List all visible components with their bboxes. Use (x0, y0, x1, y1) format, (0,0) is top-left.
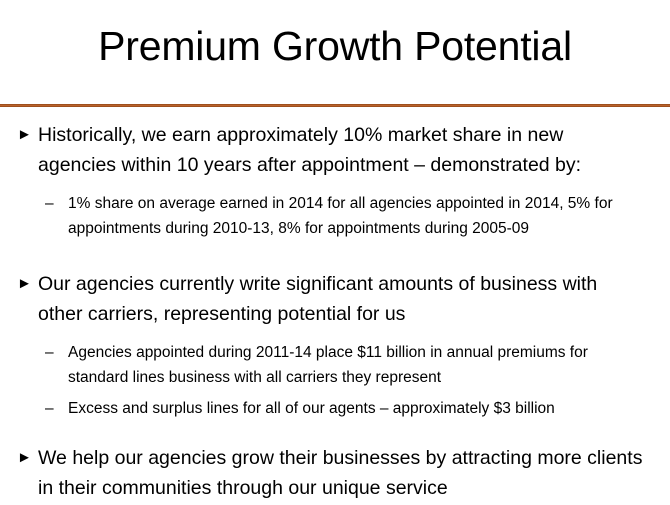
bullet-level1-item: ► Our agencies currently write significa… (0, 269, 670, 329)
bullet-level2-item: – Excess and surplus lines for all of ou… (0, 396, 670, 421)
slide-title-area: Premium Growth Potential (0, 22, 670, 70)
presentation-slide: Premium Growth Potential ► Historically,… (0, 0, 670, 503)
bullet-level1-text: Our agencies currently write significant… (38, 273, 597, 325)
bullet-level2-text: Agencies appointed during 2011-14 place … (68, 344, 588, 386)
spacer (0, 182, 670, 191)
bullet-group-3: ► We help our agencies grow their busine… (0, 443, 670, 503)
bullet-level1-text: Historically, we earn approximately 10% … (38, 124, 581, 176)
bullet-level1-item: ► We help our agencies grow their busine… (0, 443, 670, 503)
dash-bullet-icon: – (45, 191, 54, 216)
bullet-level2-item: – 1% share on average earned in 2014 for… (0, 191, 670, 241)
triangle-bullet-icon: ► (17, 120, 32, 150)
bullet-group-2: ► Our agencies currently write significa… (0, 269, 670, 421)
title-divider-rule (0, 104, 670, 107)
bullet-level2-text: 1% share on average earned in 2014 for a… (68, 195, 613, 237)
bullet-level1-item: ► Historically, we earn approximately 10… (0, 120, 670, 180)
bullet-level2-item: – Agencies appointed during 2011-14 plac… (0, 340, 670, 390)
bullet-level1-text: We help our agencies grow their business… (38, 447, 642, 499)
spacer (0, 241, 670, 269)
spacer (0, 331, 670, 340)
triangle-bullet-icon: ► (17, 443, 32, 473)
dash-bullet-icon: – (45, 340, 54, 365)
dash-bullet-icon: – (45, 396, 54, 421)
triangle-bullet-icon: ► (17, 269, 32, 299)
bullet-level2-text: Excess and surplus lines for all of our … (68, 400, 555, 417)
spacer (0, 421, 670, 443)
page-title: Premium Growth Potential (98, 22, 572, 70)
slide-body: ► Historically, we earn approximately 10… (0, 120, 670, 505)
bullet-group-1: ► Historically, we earn approximately 10… (0, 120, 670, 241)
